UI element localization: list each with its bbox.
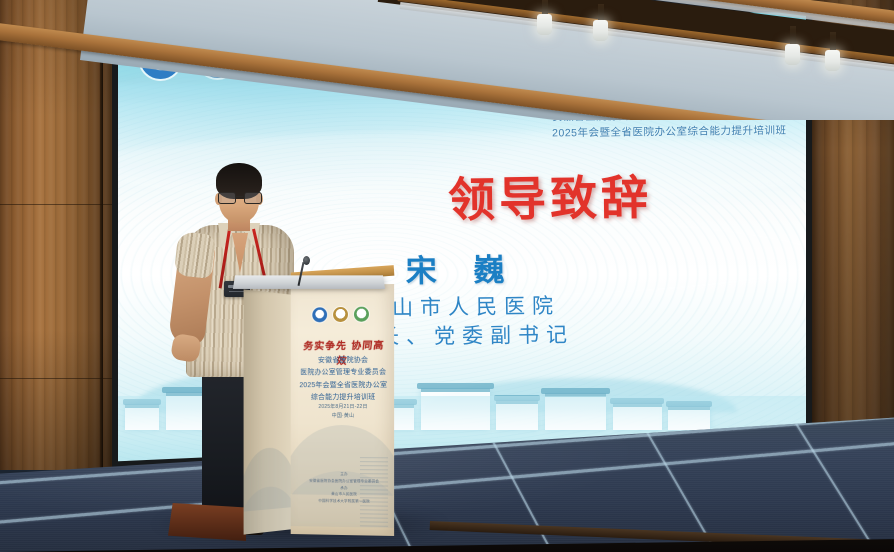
podium-title-line-1: 安徽省医院协会 xyxy=(295,355,392,368)
podium-date-block: 2025年8月21日-22日 中国·黄山 xyxy=(295,403,392,421)
wall-seam xyxy=(0,378,118,379)
glasses-icon xyxy=(218,192,260,202)
podium-organizer-block: 主办 安徽省医院协会医院办公室管理专业委员会 承办 黄山市人民医院 中国科学技术… xyxy=(299,471,391,506)
glasses-lens-left xyxy=(218,192,236,204)
podium-title-line-3: 2025年会暨全省医院办公室 xyxy=(295,379,392,392)
podium-event-title: 安徽省医院协会 医院办公室管理专业委员会 2025年会暨全省医院办公室 综合能力… xyxy=(295,355,392,404)
screen-header-line-2: 2025年会暨全省医院办公室综合能力提升培训班 xyxy=(552,123,787,142)
screen-main-title: 领导致辞 xyxy=(448,159,653,230)
wall-seam xyxy=(0,204,118,205)
speaker-left-sleeve xyxy=(174,231,216,279)
floor-grid-line xyxy=(788,412,894,552)
podium-side-panel xyxy=(244,289,294,534)
podium-date-line-1: 2025年8月21日-22日 xyxy=(295,403,392,412)
wall-panel-left-edge xyxy=(100,0,103,470)
podium-logo-blue-icon xyxy=(312,307,327,322)
health-logo-green-icon xyxy=(254,38,295,79)
conference-photo: 安徽省医院协会医院办公室管理专业委员会 2025年会暨全省医院办公室综合能力提升… xyxy=(0,0,894,552)
speaking-podium: 务实争先 协同高效 安徽省医院协会 医院办公室管理专业委员会 2025年会暨全省… xyxy=(236,281,394,540)
podium-logo-gold-icon xyxy=(333,307,348,322)
podium-title-line-2: 医院办公室管理专业委员会 xyxy=(295,367,392,380)
podium-front-panel: 务实争先 协同高效 安徽省医院协会 医院办公室管理专业委员会 2025年会暨全省… xyxy=(291,284,394,536)
association-logo-blue-icon xyxy=(140,38,181,79)
glasses-lens-right xyxy=(244,192,262,204)
screen-logo-row xyxy=(140,38,295,79)
screen-header-text: 安徽省医院协会医院办公室管理专业委员会 2025年会暨全省医院办公室综合能力提升… xyxy=(551,107,786,142)
podium-top-surface xyxy=(233,275,385,289)
wooden-step-platform xyxy=(168,503,246,541)
microphone-icon xyxy=(303,256,310,265)
hospital-logo-blue-icon xyxy=(198,39,237,78)
podium-logo-row xyxy=(312,307,369,323)
podium-logo-green-icon xyxy=(354,307,369,322)
podium-footer-line-5: 中国科学技术大学附属第一医院 xyxy=(299,498,391,506)
glasses-bridge xyxy=(235,196,243,197)
podium-date-line-2: 中国·黄山 xyxy=(295,412,392,421)
